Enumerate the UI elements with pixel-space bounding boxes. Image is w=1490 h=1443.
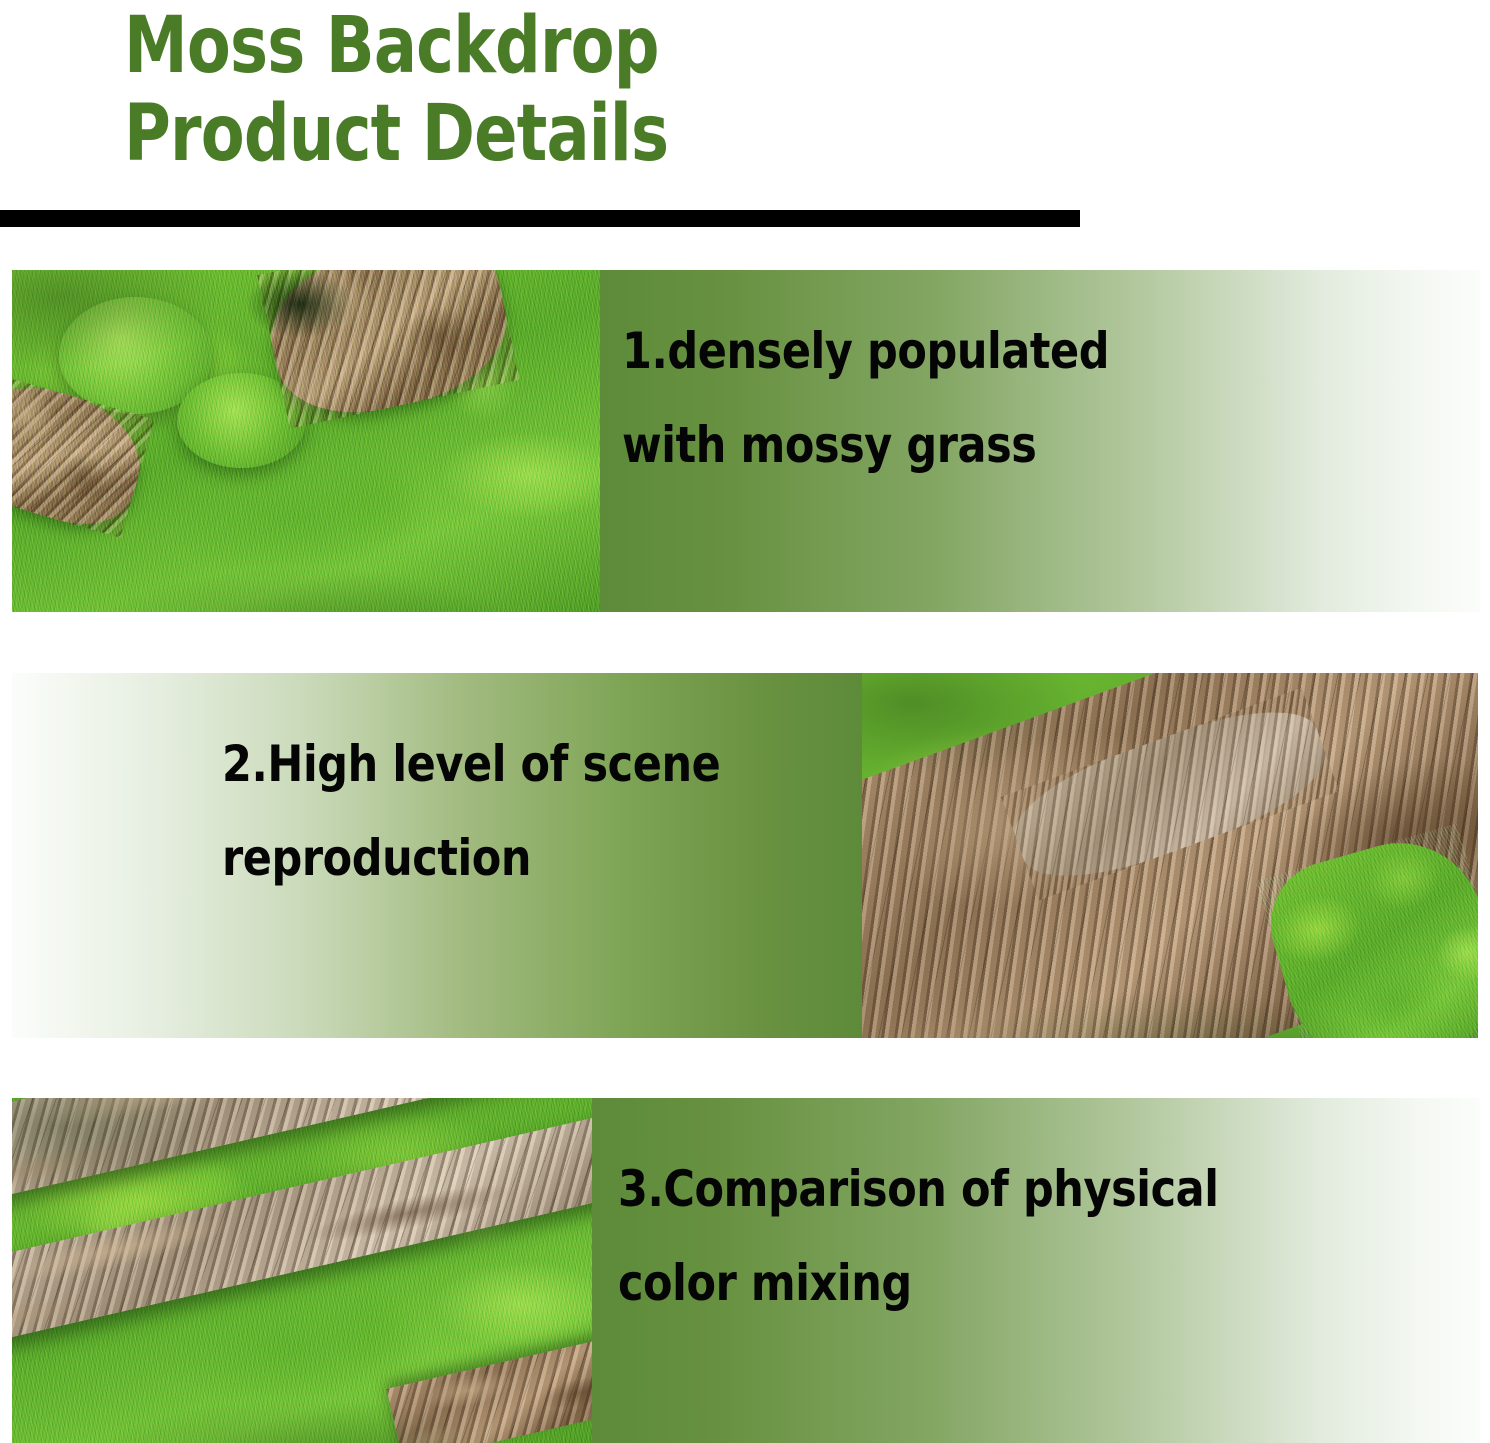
feature-2-caption-panel: 2.High level of scene reproduction	[12, 673, 862, 1038]
feature-1-photo	[12, 270, 600, 612]
feature-3-caption: 3.Comparison of physical color mixing	[618, 1142, 1219, 1330]
moss-vignette	[862, 673, 1478, 1038]
feature-2-caption: 2.High level of scene reproduction	[222, 717, 720, 905]
feature-1-caption: 1.densely populated with mossy grass	[622, 304, 1109, 492]
page-title-line-2: Product Details	[124, 90, 911, 178]
feature-2-caption-line-2: reproduction	[222, 811, 720, 905]
feature-row-2: 2.High level of scene reproduction	[12, 673, 1478, 1038]
feature-3-photo	[12, 1098, 592, 1443]
feature-3-caption-line-1: 3.Comparison of physical	[618, 1142, 1219, 1236]
feature-row-3: 3.Comparison of physical color mixing	[12, 1098, 1480, 1443]
feature-1-caption-panel: 1.densely populated with mossy grass	[600, 270, 1480, 612]
page-title: Moss Backdrop Product Details	[124, 2, 1084, 178]
feature-3-caption-panel: 3.Comparison of physical color mixing	[592, 1098, 1480, 1443]
feature-2-photo	[862, 673, 1478, 1038]
moss-vignette	[12, 270, 600, 612]
feature-row-1: 1.densely populated with mossy grass	[12, 270, 1480, 612]
feature-1-caption-line-1: 1.densely populated	[622, 304, 1109, 398]
feature-1-caption-line-2: with mossy grass	[622, 398, 1109, 492]
feature-2-caption-line-1: 2.High level of scene	[222, 717, 720, 811]
moss-vignette	[12, 1098, 592, 1443]
title-divider-rule	[0, 210, 1080, 227]
feature-3-caption-line-2: color mixing	[618, 1236, 1219, 1330]
page-title-line-1: Moss Backdrop	[124, 2, 911, 90]
